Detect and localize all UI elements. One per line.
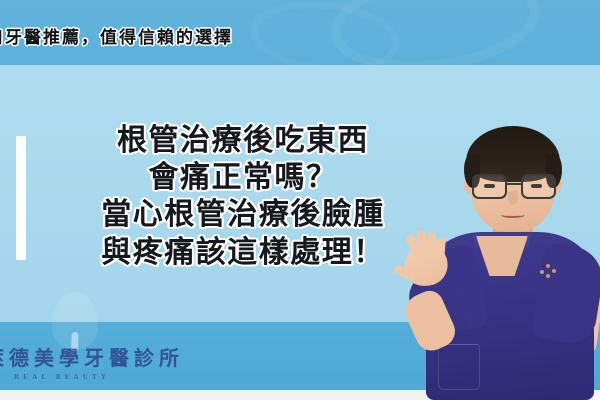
headline-block: 根管治療後吃東西 會痛正常嗎？ 當心根管治療後臉腫 與疼痛該這樣處理！ <box>58 122 428 271</box>
figure-mouth <box>501 212 525 218</box>
figure-scrub-pocket <box>438 344 480 390</box>
figure-chest-emblem-icon <box>540 264 558 278</box>
figure-nose <box>508 191 518 205</box>
glasses-left-lens <box>472 174 507 199</box>
strapline: 口牙醫推薦，值得信賴的選擇 <box>0 22 233 48</box>
headline-line-3: 當心根管治療後臉腫 <box>58 196 428 233</box>
clinic-name-chinese: 萊德美學牙醫診所 <box>0 348 184 368</box>
promo-banner: 口牙醫推薦，值得信賴的選擇 根管治療後吃東西 會痛正常嗎？ 當心根管治療後臉腫 … <box>0 0 600 400</box>
glasses-right-lens <box>521 174 556 199</box>
dentist-figure <box>398 96 600 400</box>
headline-line-1: 根管治療後吃東西 <box>58 122 428 159</box>
clinic-logo: 萊德美學牙醫診所 REAL BEAUTY <box>0 348 184 381</box>
figure-finger-little <box>436 238 446 262</box>
clinic-name-english: REAL BEAUTY <box>14 373 184 381</box>
accent-bar <box>16 136 26 260</box>
headline-line-4: 與疼痛該這樣處理！ <box>58 234 428 271</box>
headline-line-2: 會痛正常嗎？ <box>58 159 428 196</box>
glasses-bridge <box>507 183 521 185</box>
